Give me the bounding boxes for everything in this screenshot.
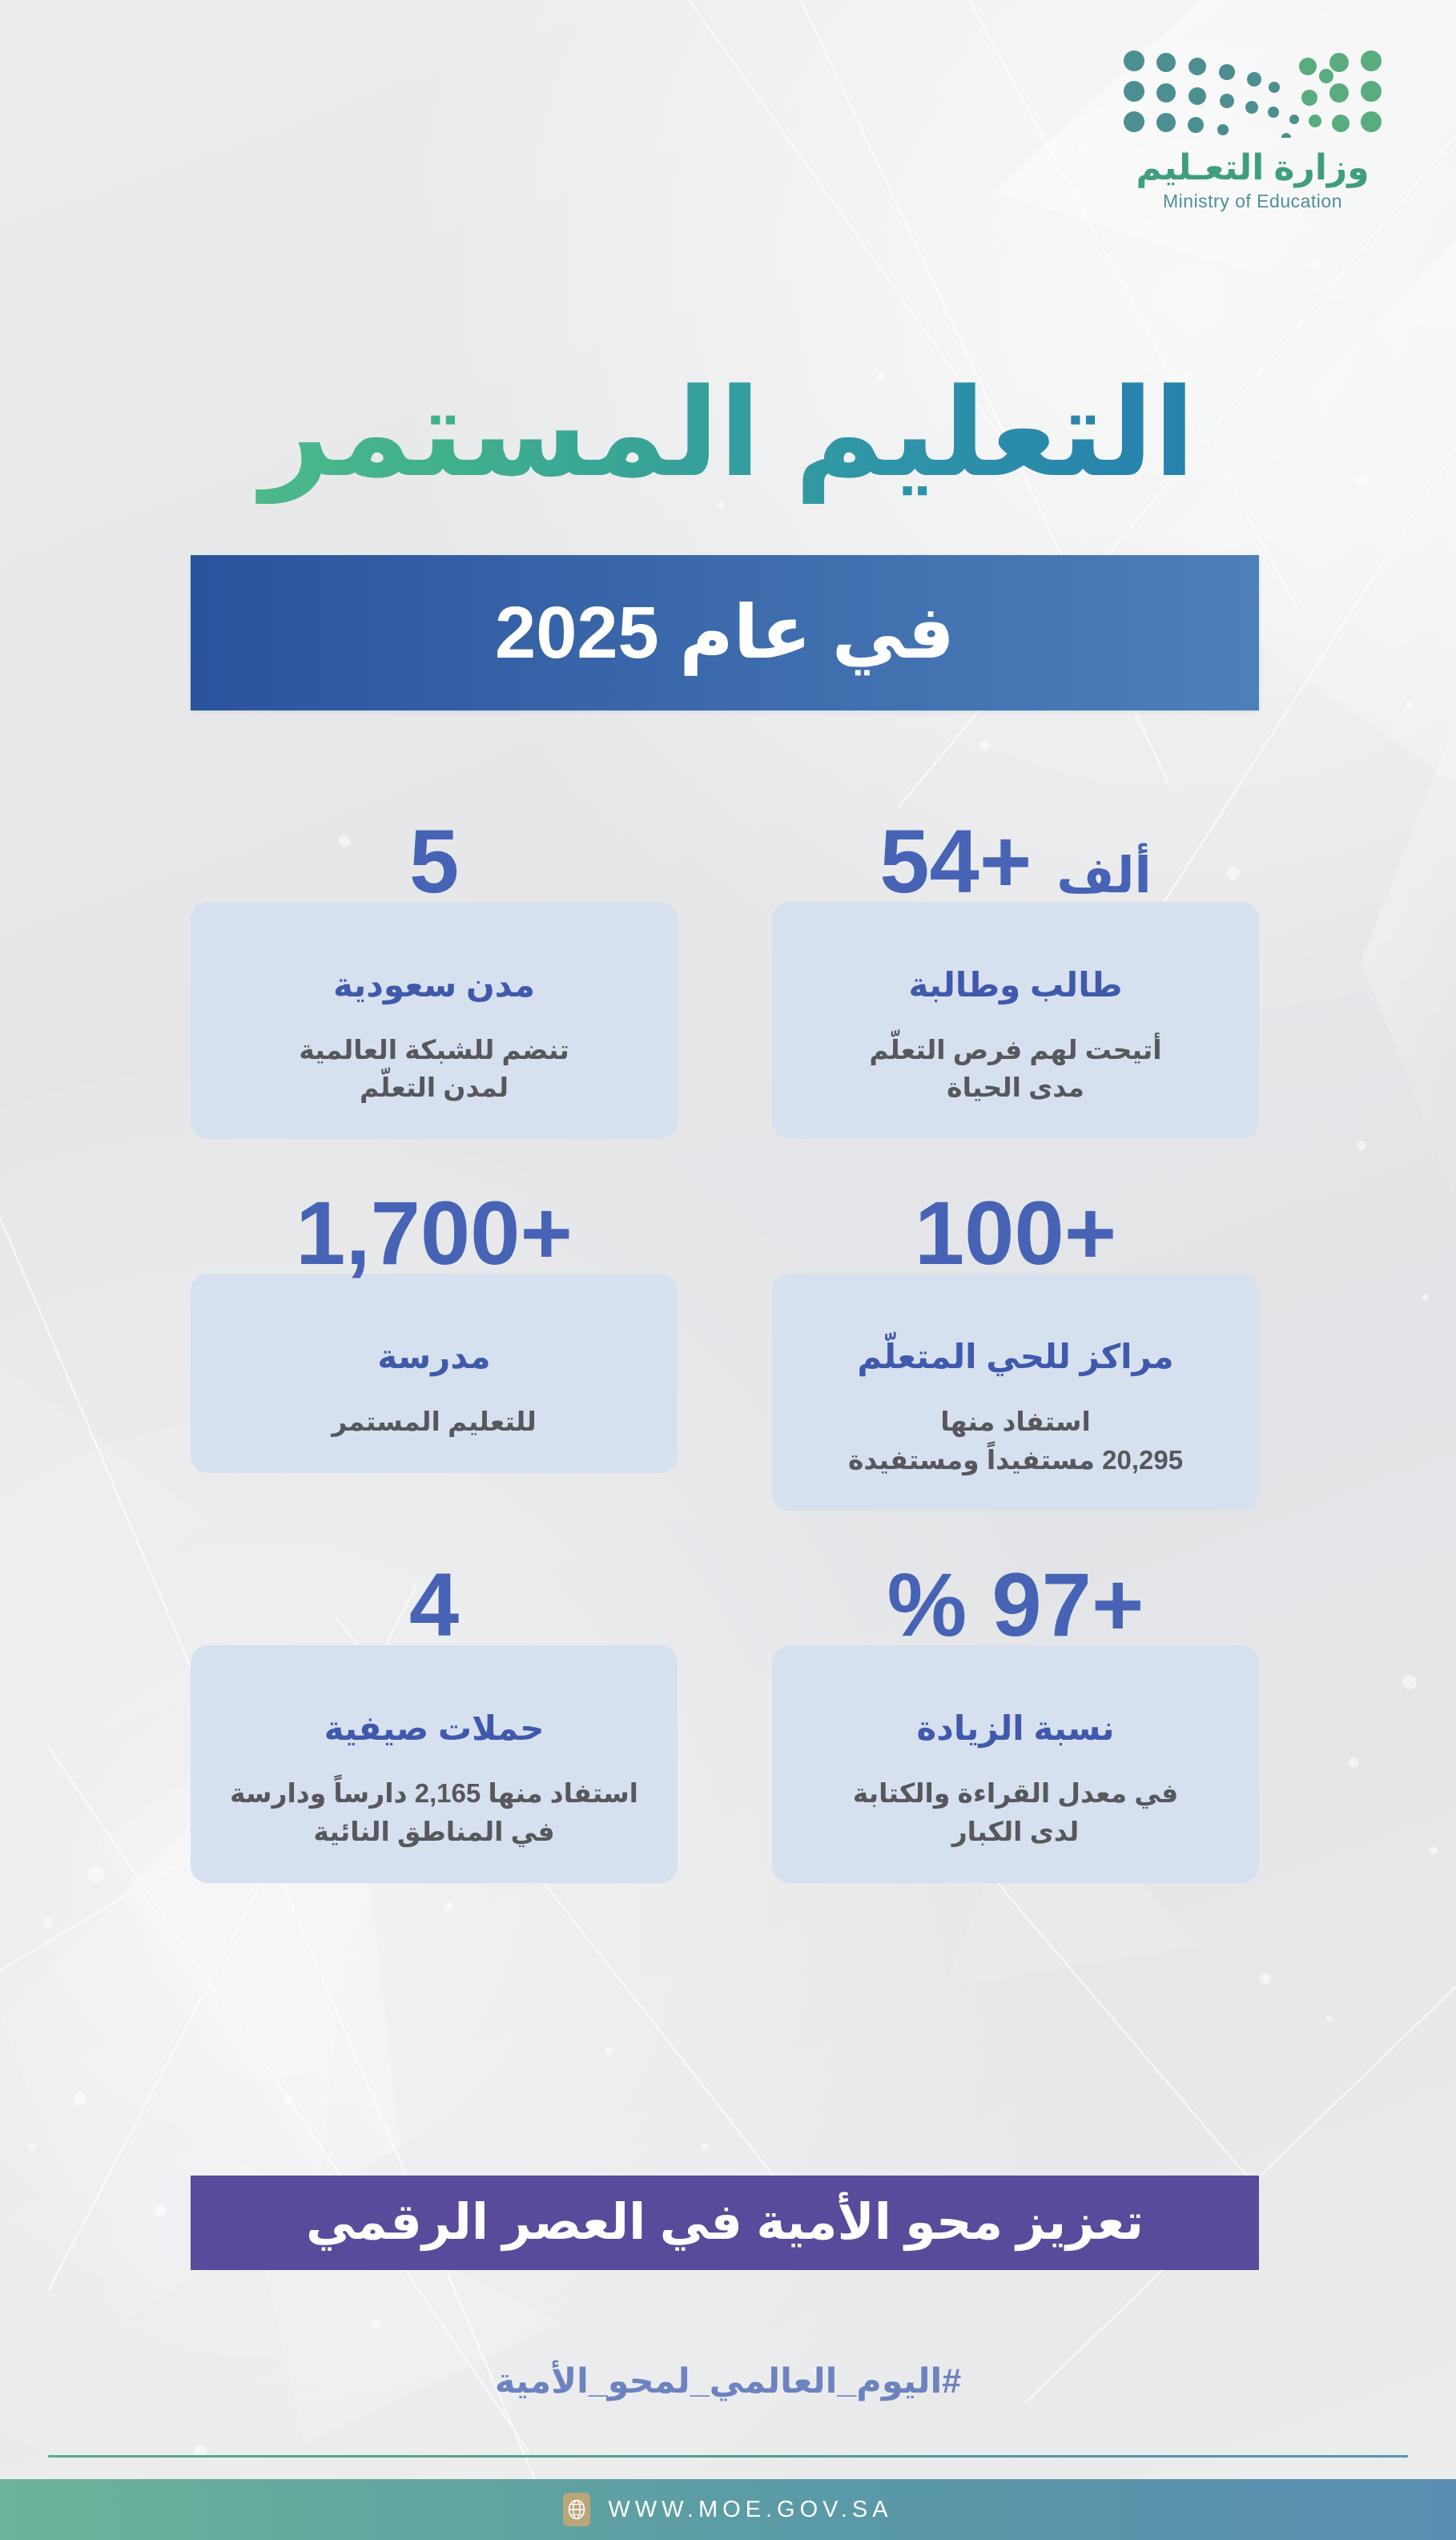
footer-bar: WWW.MOE.GOV.SA (0, 2479, 1456, 2540)
stat-number: 4 (191, 1560, 678, 1650)
stat-card: طالب وطالبة أتيحت لهم فرص التعلّممدى الح… (772, 902, 1259, 1139)
stat-card: مدرسة للتعليم المستمر (191, 1274, 678, 1472)
logo-english-name: Ministry of Education (1100, 191, 1405, 212)
logo-arabic-name: وزارة التعـليم (1100, 151, 1405, 186)
stat-value: +54 (879, 811, 1032, 912)
stats-grid: ألف +54 طالب وطالبة أتيحت لهم فرص التعلّ… (191, 817, 1259, 1933)
slogan-banner: تعزيز محو الأمية في العصر الرقمي (191, 2176, 1259, 2270)
stat-item-literacy-increase: +97 % نسبة الزيادة في معدل القراءة والكت… (772, 1560, 1259, 1882)
footer-divider (48, 2455, 1408, 2457)
stat-number: +1,700 (191, 1189, 678, 1278)
stat-number: +97 % (772, 1560, 1259, 1650)
stat-item-students: ألف +54 طالب وطالبة أتيحت لهم فرص التعلّ… (772, 817, 1259, 1139)
stat-number: 5 (191, 817, 678, 907)
stat-row: +97 % نسبة الزيادة في معدل القراءة والكت… (191, 1560, 1259, 1882)
infographic-poster: وزارة التعـليم Ministry of Education الت… (0, 0, 1456, 2540)
slogan-text: تعزيز محو الأمية في العصر الرقمي (306, 2198, 1144, 2248)
footer-url[interactable]: WWW.MOE.GOV.SA (608, 2497, 892, 2523)
stat-row: +100 مراكز للحي المتعلّم استفاد منها20,2… (191, 1189, 1259, 1511)
stat-card: مراكز للحي المتعلّم استفاد منها20,295 مس… (772, 1274, 1259, 1511)
stat-desc: تنضم للشبكة العالميةلمدن التعلّم (218, 1031, 650, 1108)
stat-item-schools: +1,700 مدرسة للتعليم المستمر (191, 1189, 678, 1511)
page-title: التعليم المستمر (0, 364, 1456, 504)
stat-desc: في معدل القراءة والكتابةلدى الكبار (799, 1774, 1232, 1851)
moe-dot-logo-icon (1116, 42, 1389, 138)
stat-desc: استفاد منها20,295 مستفيداً ومستفيدة (799, 1403, 1232, 1479)
ministry-logo: وزارة التعـليم Ministry of Education (1100, 42, 1405, 212)
stat-title: مراكز للحي المتعلّم (799, 1336, 1232, 1379)
year-banner-text: في عام 2025 (495, 596, 955, 670)
stat-desc: للتعليم المستمر (218, 1403, 650, 1441)
stat-title: حملات صيفية (218, 1708, 650, 1750)
stat-desc: أتيحت لهم فرص التعلّممدى الحياة (799, 1031, 1232, 1108)
stat-item-centers: +100 مراكز للحي المتعلّم استفاد منها20,2… (772, 1189, 1259, 1511)
stat-title: مدرسة (218, 1336, 650, 1379)
stat-item-cities: 5 مدن سعودية تنضم للشبكة العالميةلمدن ال… (191, 817, 678, 1139)
globe-icon (563, 2493, 590, 2526)
stat-number: +100 (772, 1189, 1259, 1278)
stat-card: حملات صيفية استفاد منها 2,165 دارساً ودا… (191, 1645, 678, 1882)
stat-title: مدن سعودية (218, 964, 650, 1007)
year-banner: في عام 2025 (191, 555, 1259, 710)
stat-card: مدن سعودية تنضم للشبكة العالميةلمدن التع… (191, 902, 678, 1139)
stat-desc: استفاد منها 2,165 دارساً ودارسةفي المناط… (218, 1774, 650, 1851)
stat-card: نسبة الزيادة في معدل القراءة والكتابةلدى… (772, 1645, 1259, 1882)
hashtag[interactable]: #اليوم_العالمي_لمحو_الأمية (0, 2361, 1456, 2401)
stat-number: ألف +54 (772, 817, 1259, 907)
stat-unit: ألف (1056, 848, 1151, 904)
stat-title: طالب وطالبة (799, 964, 1232, 1007)
stat-item-summer-campaigns: 4 حملات صيفية استفاد منها 2,165 دارساً و… (191, 1560, 678, 1882)
stat-title: نسبة الزيادة (799, 1708, 1232, 1750)
stat-row: ألف +54 طالب وطالبة أتيحت لهم فرص التعلّ… (191, 817, 1259, 1139)
